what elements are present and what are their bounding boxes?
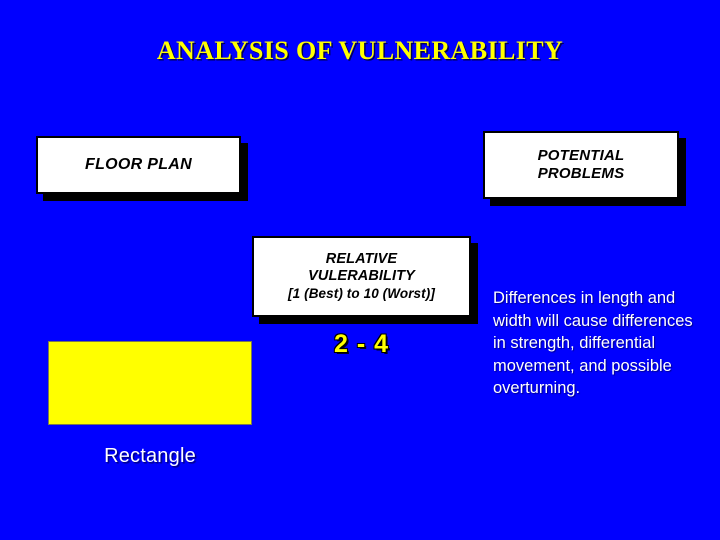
potential-problems-label-line1: POTENTIAL — [538, 147, 625, 165]
floor-plan-shape-rectangle — [48, 341, 252, 425]
slide-canvas: ANALYSIS OF VULNERABILITY FLOOR PLAN POT… — [0, 0, 720, 540]
potential-problems-label-group: POTENTIAL PROBLEMS — [538, 147, 625, 184]
potential-problems-label-line2: PROBLEMS — [538, 165, 625, 183]
page-title: ANALYSIS OF VULNERABILITY — [0, 36, 720, 66]
vulnerability-score: 2 - 4 — [252, 330, 471, 359]
potential-problems-text: Differences in length and width will cau… — [493, 287, 693, 400]
column-header-relative-vulnerability: RELATIVE VULERABILITY [1 (Best) to 10 (W… — [252, 236, 471, 317]
relative-vulnerability-label-line1: RELATIVE — [326, 251, 397, 269]
relative-vulnerability-scale-note: [1 (Best) to 10 (Worst)] — [288, 286, 435, 302]
floor-plan-shape-label: Rectangle — [48, 445, 252, 468]
column-header-potential-problems: POTENTIAL PROBLEMS — [483, 131, 679, 199]
floor-plan-label: FLOOR PLAN — [85, 155, 192, 175]
column-header-floor-plan: FLOOR PLAN — [36, 136, 241, 194]
relative-vulnerability-label-line2: VULERABILITY — [308, 268, 415, 286]
